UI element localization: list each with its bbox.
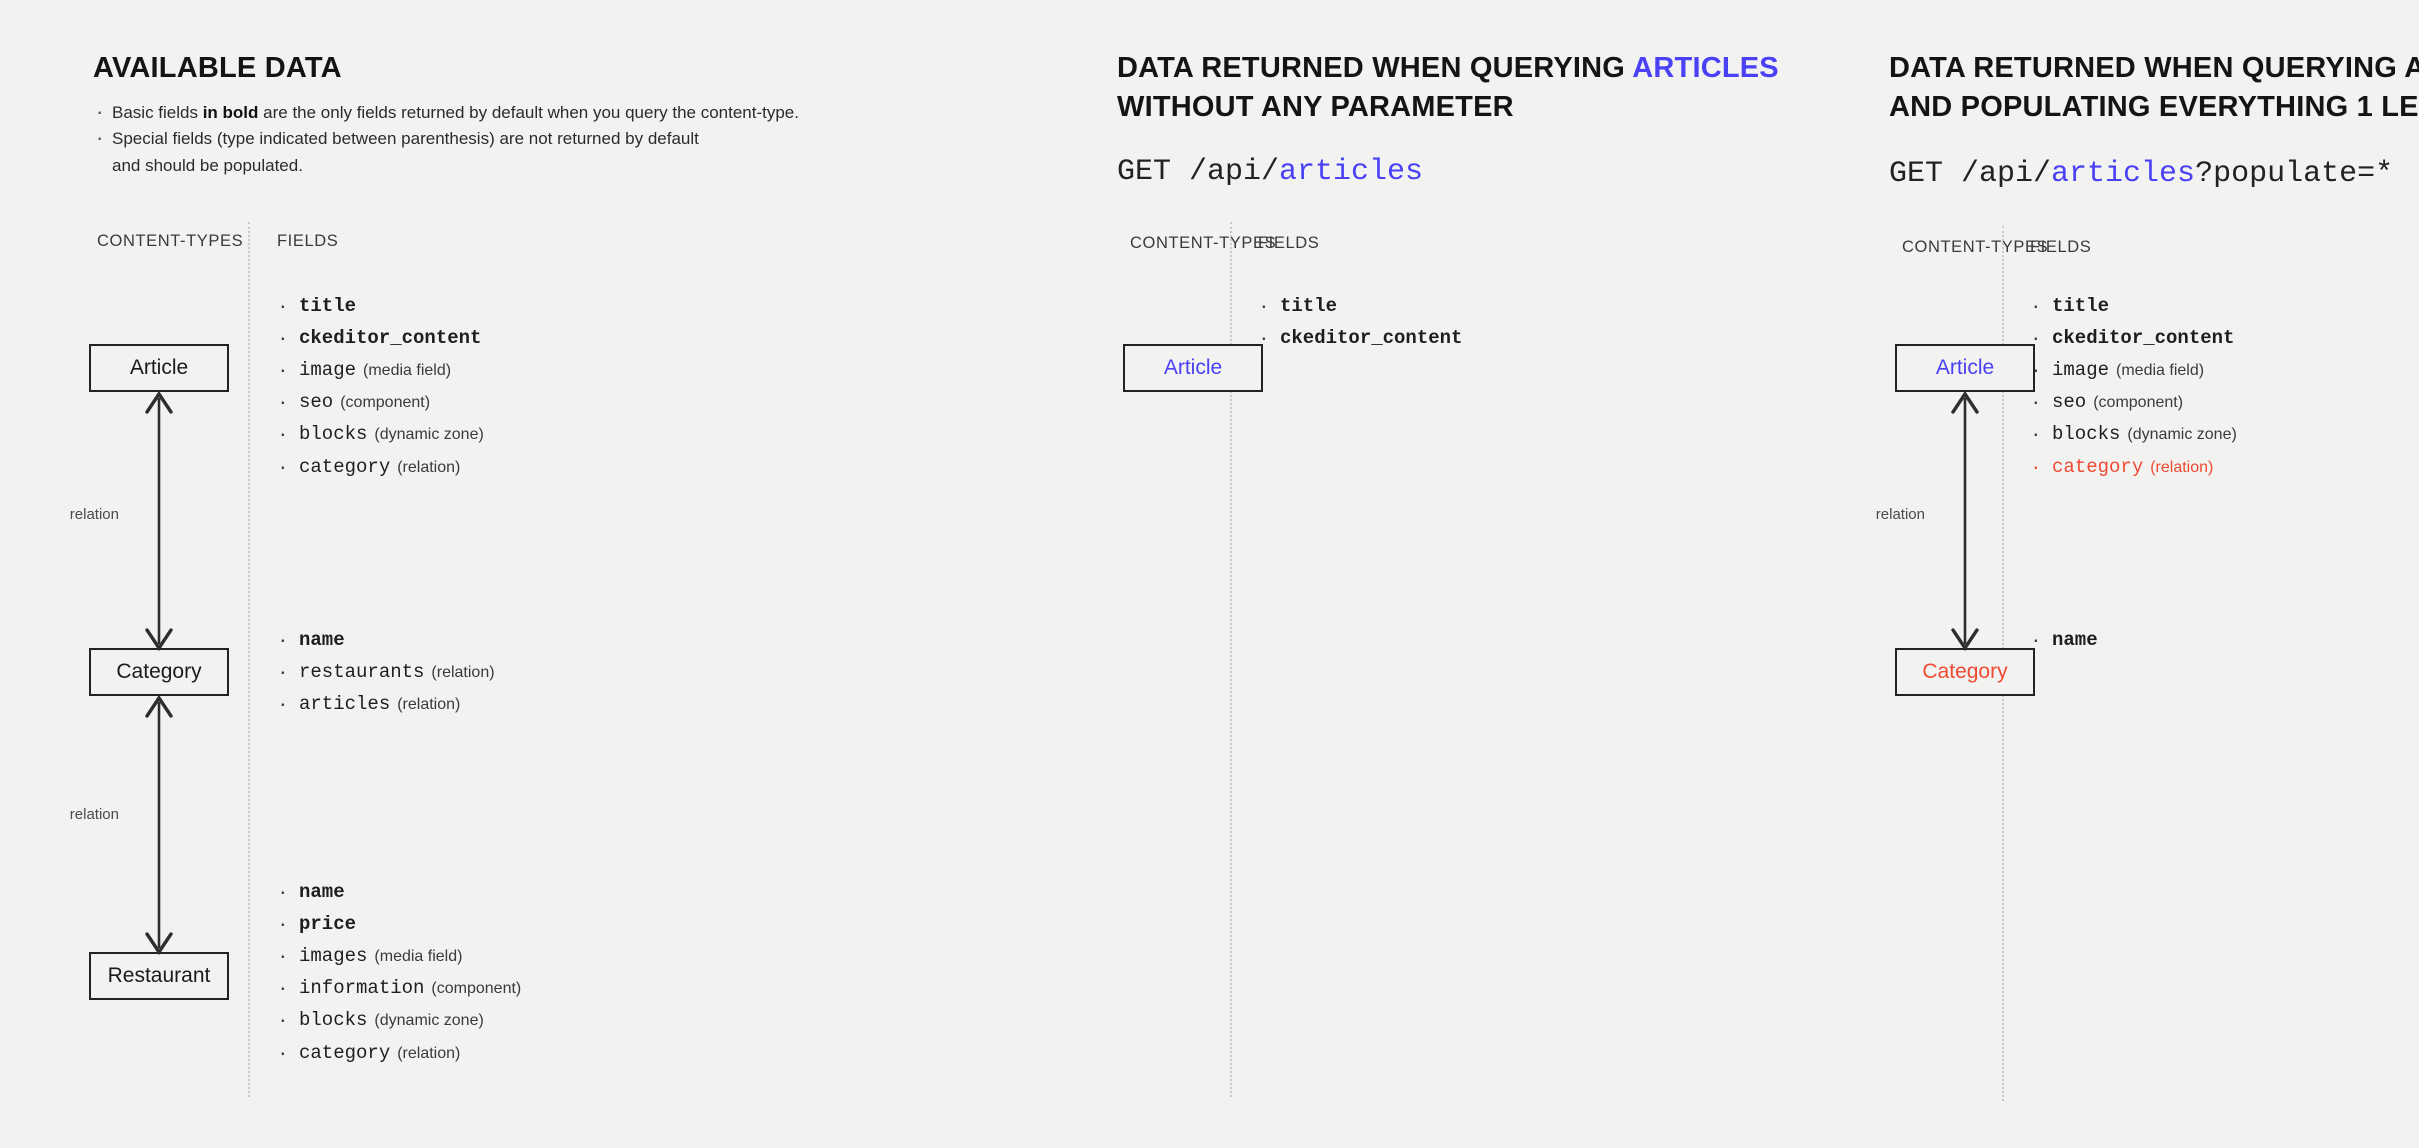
field-row: seo(component) [277,386,488,418]
field-name: ckeditor_content [1280,327,1462,349]
field-type: (media field) [363,362,451,379]
field-row: blocks(dynamic zone) [2030,418,2241,450]
note-post: are the only fields returned by default … [258,103,799,122]
endpoint-resource: articles [1279,155,1423,189]
field-row: ckeditor_content [277,322,488,354]
field-name: images [299,945,367,967]
panel-3-title: DATA RETURNED WHEN QUERYING ARTICLES AND… [1889,49,2419,126]
field-type: (dynamic zone) [2127,426,2236,443]
field-row: restaurants(relation) [277,656,495,688]
col-header-fields: FIELDS [277,232,338,251]
field-name: restaurants [299,661,424,683]
field-name: title [1280,295,1337,317]
content-type-label: Article [1936,356,1994,380]
relation-arrow-article-category [1935,390,1995,652]
field-type: (component) [340,394,430,411]
field-row: title [2030,290,2241,322]
panel-3-title-line1: DATA RETURNED WHEN QUERYING ARTICLES [1889,52,2419,84]
field-row: category(relation) [277,1037,521,1069]
col-header-fields: FIELDS [2030,238,2091,257]
panel-1-notes: Basic fields in bold are the only fields… [94,100,854,179]
content-type-label: Article [1164,356,1222,380]
field-name: title [2052,295,2109,317]
panel-3-title-line2: AND POPULATING EVERYTHING 1 LEVEL DEEP [1889,91,2419,123]
field-name: name [299,881,345,903]
field-row-highlight: category(relation) [2030,451,2241,483]
field-name: blocks [2052,423,2120,445]
field-list-article: title ckeditor_content image(media field… [277,290,488,483]
field-row: title [277,290,488,322]
field-row: ckeditor_content [1258,322,1469,354]
content-type-box-article[interactable]: Article [89,344,229,392]
relation-arrow-category-restaurant [129,694,189,956]
field-list-category: name [2030,624,2105,656]
note-bold: in bold [203,103,259,122]
panel-2-title: DATA RETURNED WHEN QUERYING ARTICLES WIT… [1117,49,1817,126]
field-name: articles [299,693,390,715]
field-name: image [2052,359,2109,381]
field-row: images(media field) [277,940,521,972]
col-header-fields: FIELDS [1258,234,1319,253]
content-type-box-article[interactable]: Article [1895,344,2035,392]
content-type-label: Restaurant [108,964,211,988]
field-name: blocks [299,423,367,445]
field-name: price [299,913,356,935]
field-name: ckeditor_content [299,327,481,349]
field-name: image [299,359,356,381]
field-name: seo [299,391,333,413]
content-type-box-article[interactable]: Article [1123,344,1263,392]
field-name: name [2052,629,2098,651]
panel-2-title-line2: WITHOUT ANY PARAMETER [1117,91,1514,123]
panel-query-populate-deep: DATA RETURNED WHEN QUERYING ARTICLES AND… [1852,0,2419,1148]
endpoint-prefix: GET /api/ [1117,155,1279,189]
panel-3-endpoint: GET /api/articles?populate=* [1889,157,2393,191]
relation-label: relation [65,805,124,824]
field-type: (component) [2093,394,2183,411]
field-name: blocks [299,1009,367,1031]
field-list-restaurant: name price images(media field) informati… [277,876,521,1069]
endpoint-resource: articles [2051,157,2195,191]
note-item: Basic fields in bold are the only fields… [94,100,854,126]
content-type-label: Article [130,356,188,380]
relation-label: relation [65,505,124,524]
panel-query-no-parameter: DATA RETURNED WHEN QUERYING ARTICLES WIT… [1080,0,1852,1148]
field-row: name [2030,624,2105,656]
endpoint-suffix: ?populate=* [2195,157,2393,191]
field-type: (relation) [397,459,460,476]
field-type: (media field) [374,948,462,965]
field-type: (relation) [397,1045,460,1062]
content-type-label: Category [116,660,201,684]
col-header-content-types: CONTENT-TYPES [1130,234,1276,253]
field-row: ckeditor_content [2030,322,2241,354]
field-row: seo(component) [2030,386,2241,418]
field-row: name [277,876,521,908]
content-type-box-category[interactable]: Category [1895,648,2035,696]
note-pre: Basic fields [112,103,203,122]
field-type: (component) [431,980,521,997]
field-row: blocks(dynamic zone) [277,418,488,450]
field-row: title [1258,290,1469,322]
field-list-article: title ckeditor_content [1258,290,1469,354]
field-name: category [299,1042,390,1064]
note-continuation: and should be populated. [112,153,854,179]
field-row: blocks(dynamic zone) [277,1004,521,1036]
panel-available-data: AVAILABLE DATA Basic fields in bold are … [0,0,1080,1148]
field-list-article: title ckeditor_content image(media field… [2030,290,2241,483]
field-row: category(relation) [277,451,488,483]
content-type-label: Category [1922,660,2007,684]
relation-label: relation [1871,505,1930,524]
field-row: articles(relation) [277,688,495,720]
field-row: price [277,908,521,940]
field-type: (relation) [2150,459,2213,476]
field-type: (media field) [2116,362,2204,379]
field-name: name [299,629,345,651]
content-type-box-restaurant[interactable]: Restaurant [89,952,229,1000]
field-type: (dynamic zone) [374,426,483,443]
panel-2-title-line1: DATA RETURNED WHEN QUERYING [1117,52,1632,84]
panel-1-title: AVAILABLE DATA [93,49,342,88]
field-name: seo [2052,391,2086,413]
field-row: image(media field) [2030,354,2241,386]
col-header-content-types: CONTENT-TYPES [1902,238,2048,257]
col-header-content-types: CONTENT-TYPES [97,232,243,251]
field-type: (relation) [431,664,494,681]
note-item: Special fields (type indicated between p… [94,126,854,179]
relation-arrow-article-category [129,390,189,652]
panel-1-title-text: AVAILABLE DATA [93,52,342,84]
field-name: category [299,456,390,478]
field-row: image(media field) [277,354,488,386]
panel-2-endpoint: GET /api/articles [1117,155,1423,189]
panel-2-title-accent: ARTICLES [1632,52,1779,84]
content-type-box-category[interactable]: Category [89,648,229,696]
field-type: (dynamic zone) [374,1012,483,1029]
endpoint-prefix: GET /api/ [1889,157,2051,191]
field-name: category [2052,456,2143,478]
column-divider [248,222,250,1097]
field-row: information(component) [277,972,521,1004]
field-name: title [299,295,356,317]
field-name: information [299,977,424,999]
note-pre: Special fields (type indicated between p… [112,129,699,148]
field-name: ckeditor_content [2052,327,2234,349]
field-row: name [277,624,495,656]
field-type: (relation) [397,696,460,713]
field-list-category: name restaurants(relation) articles(rela… [277,624,495,720]
